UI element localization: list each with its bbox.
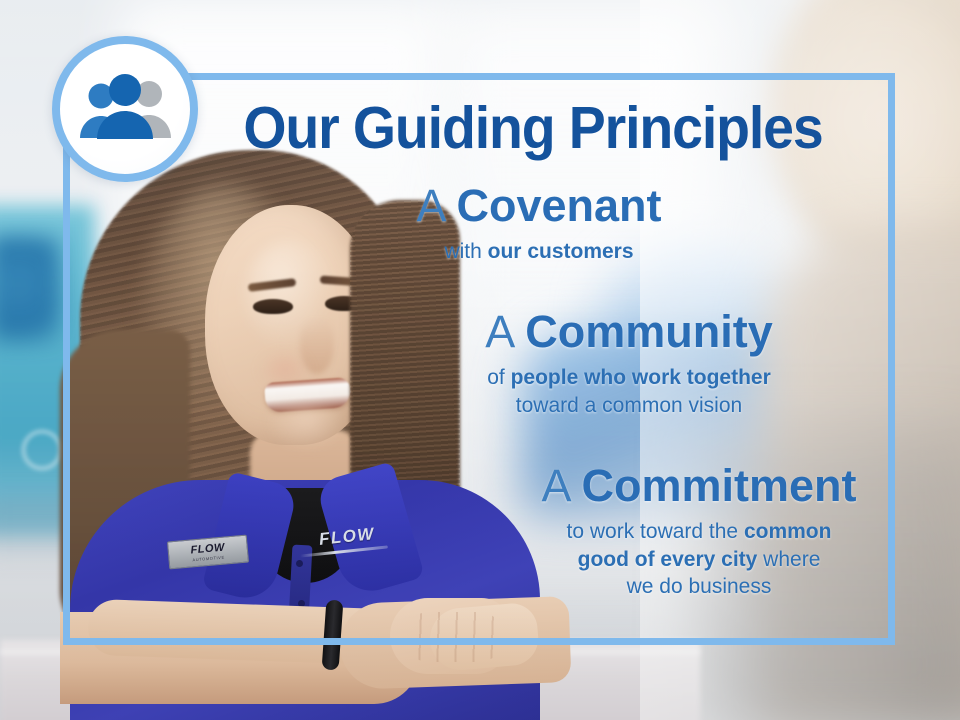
sub-line: good of every city where xyxy=(283,546,960,574)
principle-heading-covenant: A Covenant xyxy=(123,183,955,229)
keyword-covenant: Covenant xyxy=(457,180,662,231)
article-a-3: A xyxy=(541,460,581,511)
principle-covenant: A Covenant with our customers xyxy=(63,183,955,266)
principles-text-block: Our Guiding Principles A Covenant with o… xyxy=(63,73,895,645)
principle-sub-commitment: to work toward the common good of every … xyxy=(283,518,960,601)
sub-seg: to work toward the xyxy=(567,520,744,543)
sub-seg-bold: common xyxy=(744,520,832,543)
sub-seg: we do business xyxy=(627,575,772,598)
sub-line: to work toward the common xyxy=(283,518,960,546)
principle-commitment: A Commitment to work toward the common g… xyxy=(63,463,960,601)
principle-heading-commitment: A Commitment xyxy=(283,463,960,509)
sub-seg: where xyxy=(757,548,820,571)
guiding-principles-banner: FLOW AUTOMOTIVE FLOW xyxy=(0,0,960,720)
sub-seg-bold: people who work together xyxy=(511,366,771,389)
principle-sub-covenant: with our customers xyxy=(123,238,955,266)
sub-seg-bold: our customers xyxy=(488,240,634,263)
principle-heading-community: A Community xyxy=(213,309,960,355)
article-a-1: A xyxy=(416,180,456,231)
sub-line: we do business xyxy=(283,573,960,601)
sub-seg-bold: good of every city xyxy=(578,548,758,571)
sub-seg: with xyxy=(444,240,487,263)
sub-line: with our customers xyxy=(444,240,633,263)
sub-seg: of xyxy=(487,366,510,389)
principle-sub-community: of people who work together toward a com… xyxy=(213,364,960,419)
page-title: Our Guiding Principles xyxy=(232,99,834,158)
keyword-community: Community xyxy=(525,306,773,357)
sub-line: toward a common vision xyxy=(213,392,960,420)
article-a-2: A xyxy=(485,306,525,357)
keyword-commitment: Commitment xyxy=(582,460,857,511)
sub-line: of people who work together xyxy=(213,364,960,392)
principle-community: A Community of people who work together … xyxy=(63,309,960,419)
sub-seg: toward a common vision xyxy=(516,394,742,417)
